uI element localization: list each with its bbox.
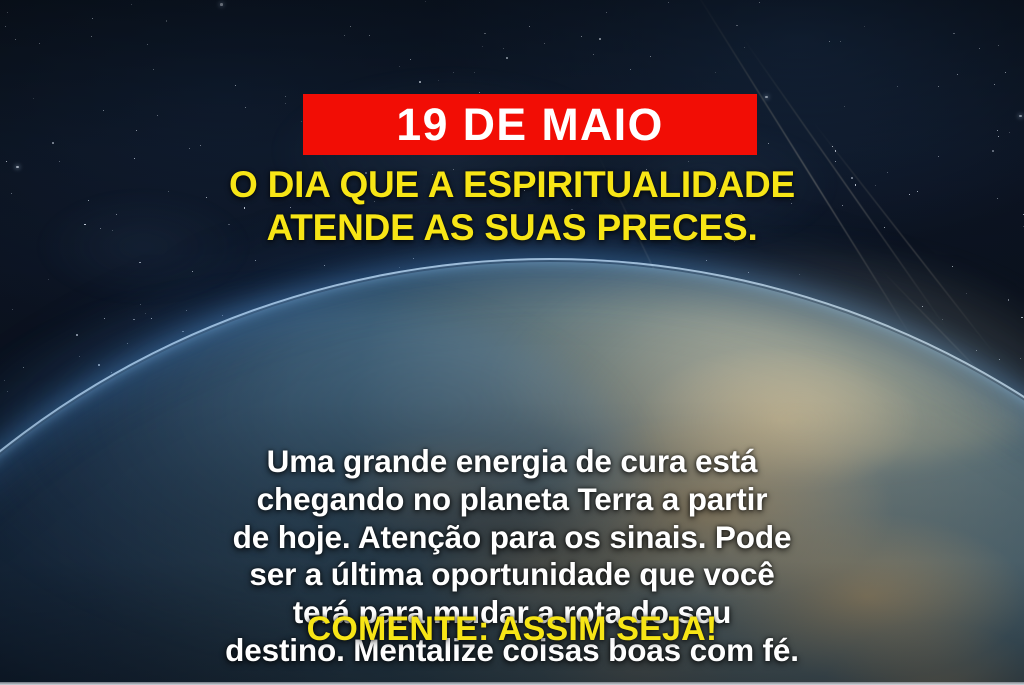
date-banner: 19 DE MAIO	[303, 94, 757, 155]
body-line-4: ser a última oportunidade que você	[48, 556, 976, 594]
comment-call-to-action: COMENTE: ASSIM SEJA!	[0, 612, 1024, 646]
body-line-2: chegando no planeta Terra a partir	[48, 481, 976, 519]
poster-canvas: 19 DE MAIO O DIA QUE A ESPIRITUALIDADE A…	[0, 0, 1024, 685]
headline: O DIA QUE A ESPIRITUALIDADE ATENDE AS SU…	[0, 164, 1024, 250]
body-line-1: Uma grande energia de cura está	[48, 443, 976, 481]
date-banner-text: 19 DE MAIO	[396, 102, 663, 147]
body-line-3: de hoje. Atenção para os sinais. Pode	[48, 519, 976, 557]
headline-line-2: ATENDE AS SUAS PRECES.	[0, 207, 1024, 250]
headline-line-1: O DIA QUE A ESPIRITUALIDADE	[0, 164, 1024, 207]
poster-content: 19 DE MAIO O DIA QUE A ESPIRITUALIDADE A…	[0, 0, 1024, 685]
